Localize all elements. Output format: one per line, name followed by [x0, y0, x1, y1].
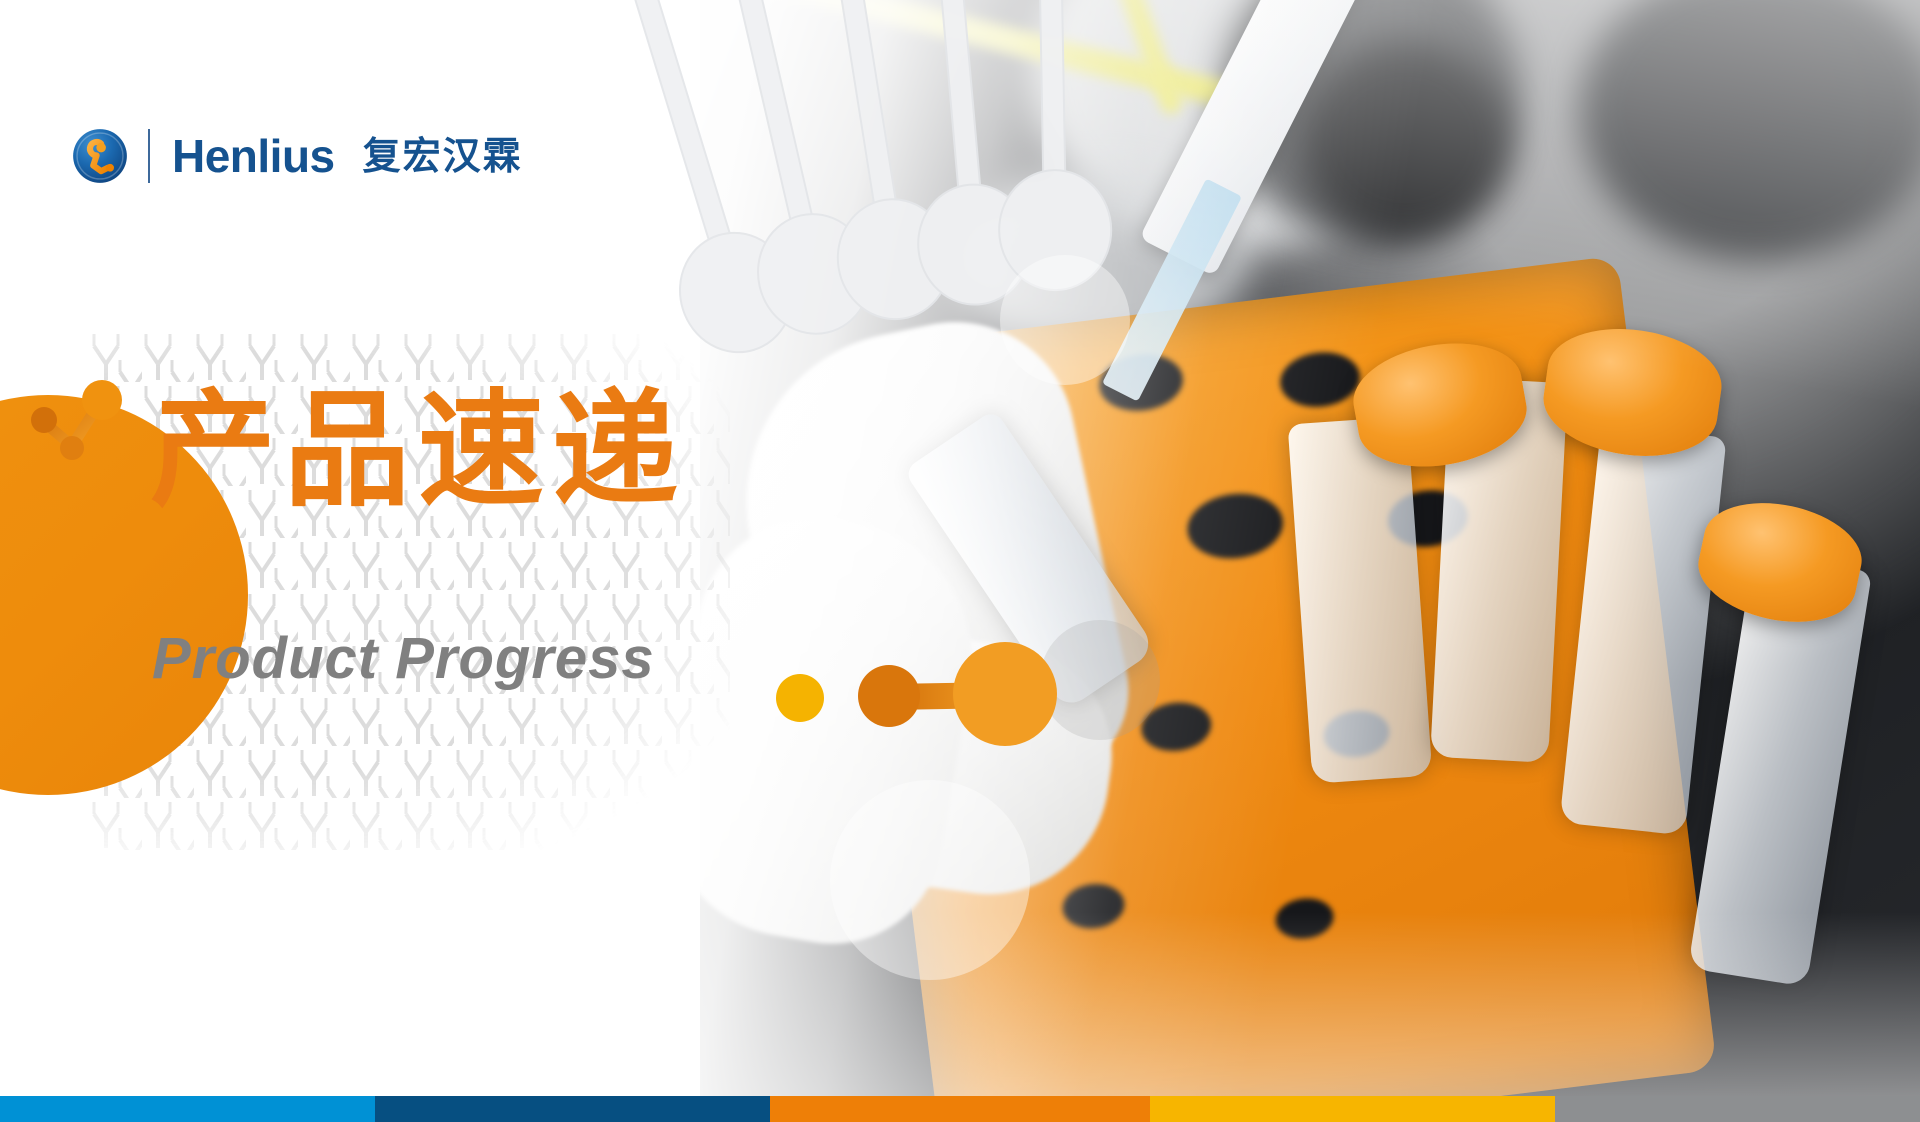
colorbar-segment-light-blue — [0, 1096, 375, 1122]
molecule-dumbbell-decor-icon — [855, 640, 1075, 750]
logo-divider — [148, 129, 150, 183]
bokeh-circle — [1000, 255, 1130, 385]
logo-wordmark: Henlius — [172, 133, 335, 179]
page-subtitle-english: Product Progress — [152, 625, 655, 692]
colorbar-segment-dark-blue — [375, 1096, 770, 1122]
page-title-chinese: 产品速递 — [150, 382, 686, 521]
bottom-color-bar — [0, 1096, 1920, 1122]
brand-logo[interactable]: Henlius 复宏汉霖 — [72, 124, 523, 188]
colorbar-segment-orange — [770, 1096, 1150, 1122]
content-panel: Henlius 复宏汉霖 产品速递 Product Progress — [0, 0, 1000, 1122]
colorbar-segment-grey — [1555, 1096, 1920, 1122]
yellow-dot-decor-icon — [770, 668, 830, 728]
slide-canvas: Henlius 复宏汉霖 产品速递 Product Progress — [0, 0, 1920, 1122]
logo-chinese-name: 复宏汉霖 — [363, 137, 523, 175]
henlius-molecule-logo-icon — [72, 128, 128, 184]
molecule-decor-icon — [22, 372, 142, 482]
colorbar-segment-yellow — [1150, 1096, 1555, 1122]
